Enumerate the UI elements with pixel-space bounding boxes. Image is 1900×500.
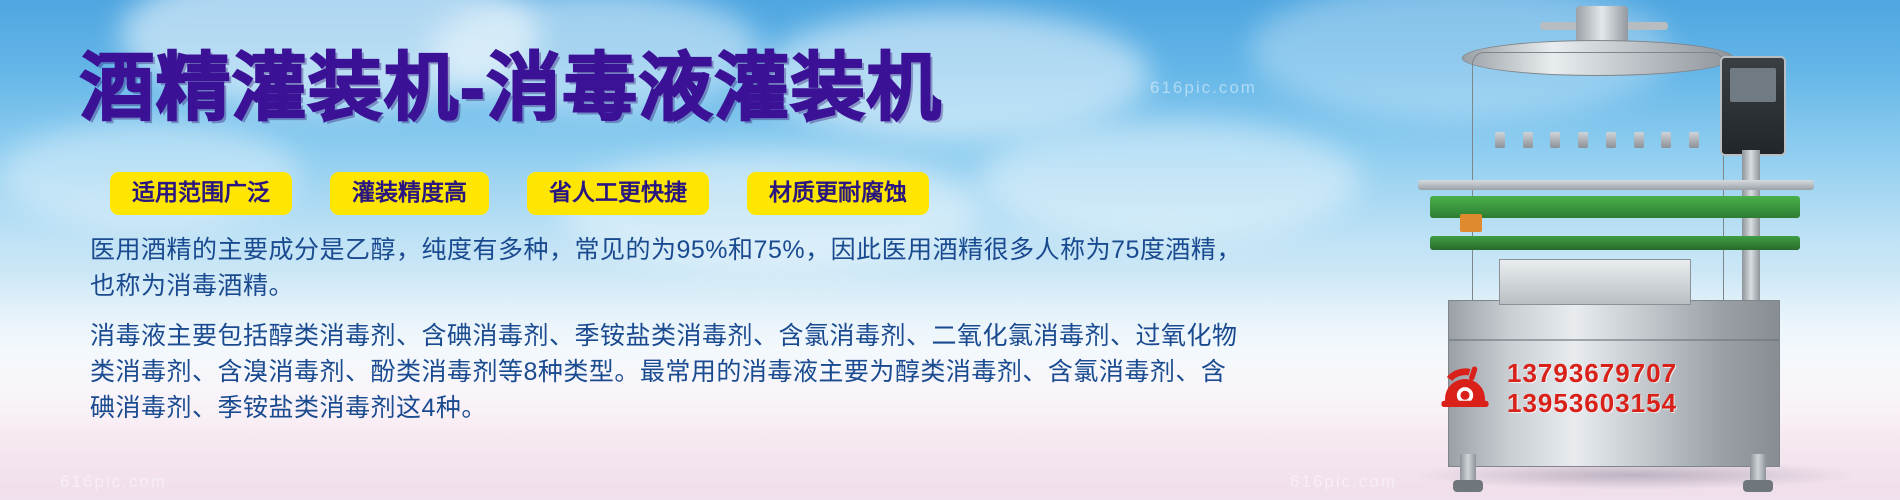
nozzle <box>1578 132 1588 148</box>
machine-rail <box>1418 180 1814 190</box>
machine-nozzles <box>1486 132 1708 148</box>
telephone-icon <box>1435 359 1495 417</box>
cloud-decoration <box>980 120 1360 240</box>
machine-panel-screen <box>1730 68 1776 102</box>
feature-badge-1[interactable]: 适用范围广泛 <box>110 172 292 215</box>
nozzle <box>1495 132 1505 148</box>
page-title: 酒精灌装机-消毒液灌装机 <box>80 48 943 128</box>
description-block: 医用酒精的主要成分是乙醇，纯度有多种，常见的为95%和75%，因此医用酒精很多人… <box>90 232 1250 426</box>
machine-post <box>1742 150 1760 310</box>
machine-conveyor-lower <box>1430 236 1800 250</box>
machine-control-panel <box>1720 56 1786 156</box>
machine-conveyor <box>1430 196 1800 218</box>
machine-leg <box>1750 454 1766 482</box>
phone-number-list: 13793679707 13953603154 <box>1507 358 1677 418</box>
promo-banner: 酒精灌装机-消毒液灌装机 适用范围广泛 灌装精度高 省人工更快捷 材质更耐腐蚀 … <box>0 0 1900 500</box>
nozzle <box>1523 132 1533 148</box>
machine-foot <box>1453 480 1483 492</box>
watermark: 616pic.com <box>1150 78 1257 98</box>
nozzle <box>1634 132 1644 148</box>
product-image <box>1390 0 1900 500</box>
description-paragraph-2: 消毒液主要包括醇类消毒剂、含碘消毒剂、季铵盐类消毒剂、含氯消毒剂、二氧化氯消毒剂… <box>90 318 1250 426</box>
phone-number-2[interactable]: 13953603154 <box>1507 388 1677 418</box>
feature-badge-2[interactable]: 灌装精度高 <box>330 172 489 215</box>
nozzle <box>1606 132 1616 148</box>
description-paragraph-1: 医用酒精的主要成分是乙醇，纯度有多种，常见的为95%和75%，因此医用酒精很多人… <box>90 232 1250 304</box>
phone-number-1[interactable]: 13793679707 <box>1507 358 1677 388</box>
machine-orange-part <box>1460 214 1482 232</box>
watermark: 616pic.com <box>1290 472 1397 492</box>
feature-badge-list: 适用范围广泛 灌装精度高 省人工更快捷 材质更耐腐蚀 <box>110 172 929 215</box>
feature-badge-3[interactable]: 省人工更快捷 <box>527 172 709 215</box>
machine-leg <box>1460 454 1476 482</box>
nozzle <box>1689 132 1699 148</box>
contact-block[interactable]: 13793679707 13953603154 <box>1435 358 1677 418</box>
machine-cabinet-panel <box>1499 259 1691 305</box>
nozzle <box>1661 132 1671 148</box>
machine-foot <box>1743 480 1773 492</box>
watermark: 616pic.com <box>60 472 167 492</box>
nozzle <box>1550 132 1560 148</box>
feature-badge-4[interactable]: 材质更耐腐蚀 <box>747 172 929 215</box>
